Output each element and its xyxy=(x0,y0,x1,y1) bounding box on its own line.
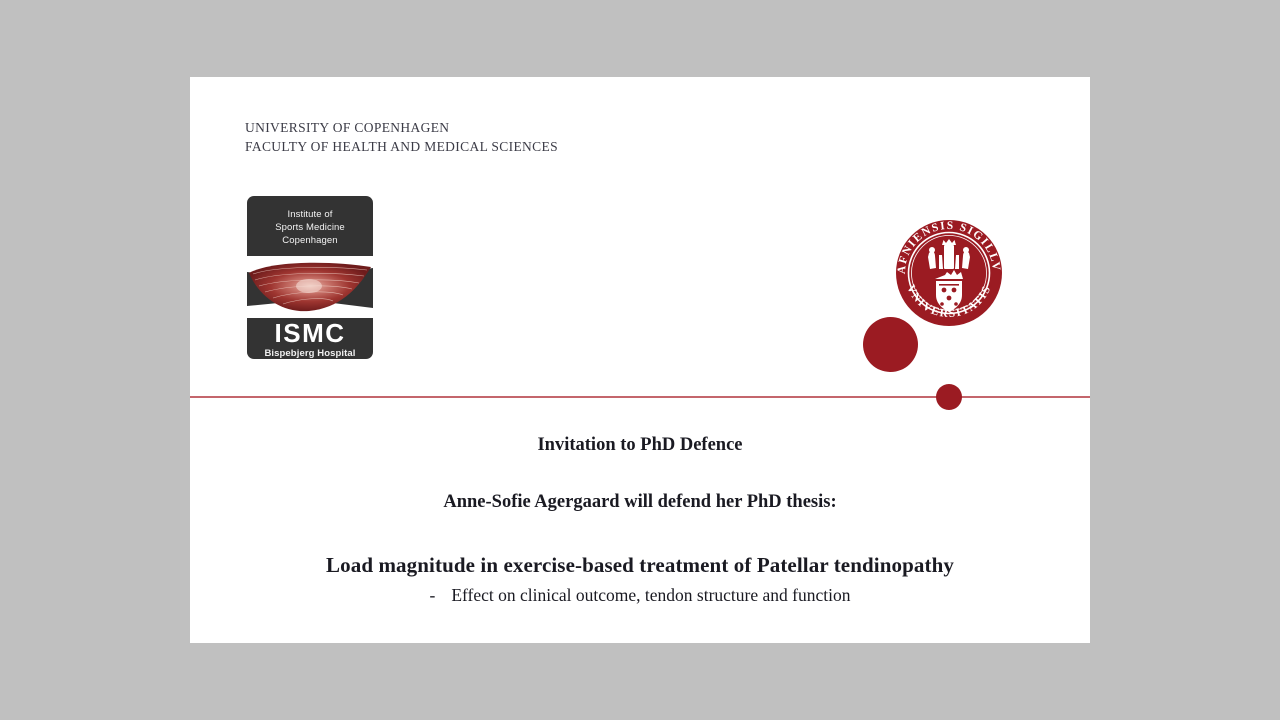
thesis-subtitle-dash: - xyxy=(430,585,436,606)
ismc-toptext-line3: Copenhagen xyxy=(247,235,373,248)
faculty-name: FACULTY OF HEALTH AND MEDICAL SCIENCES xyxy=(245,138,558,157)
ucph-seal-icon: HAFNIENSIS SIGILLVM VNIVERSITATIS xyxy=(895,219,1003,327)
ismc-wordmark: ISMC Bispebjerg Hospital xyxy=(247,320,373,359)
decorative-circle-large xyxy=(863,317,918,372)
invitation-body: Invitation to PhD Defence Anne-Sofie Age… xyxy=(190,427,1090,643)
ismc-toptext-line1: Institute of xyxy=(247,209,373,222)
invitation-heading: Invitation to PhD Defence xyxy=(190,435,1090,456)
thesis-subtitle: -Effect on clinical outcome, tendon stru… xyxy=(190,585,1090,606)
thesis-title: Load magnitude in exercise-based treatme… xyxy=(190,553,1090,578)
invitation-slide-card: UNIVERSITY OF COPENHAGEN FACULTY OF HEAL… xyxy=(190,77,1090,643)
university-name: UNIVERSITY OF COPENHAGEN xyxy=(245,119,558,138)
ismc-logo-toptext: Institute of Sports Medicine Copenhagen xyxy=(247,209,373,247)
thesis-subtitle-text: Effect on clinical outcome, tendon struc… xyxy=(451,585,850,605)
ismc-logo: Institute of Sports Medicine Copenhagen xyxy=(247,196,373,359)
ismc-acronym: ISMC xyxy=(247,320,373,346)
defender-statement: Anne-Sofie Agergaard will defend her PhD… xyxy=(190,492,1090,513)
institution-header: UNIVERSITY OF COPENHAGEN FACULTY OF HEAL… xyxy=(245,119,558,156)
muscle-illustration-icon xyxy=(247,256,373,318)
decorative-circle-small xyxy=(936,384,962,410)
ismc-hospital-name: Bispebjerg Hospital xyxy=(247,348,373,359)
ismc-toptext-line2: Sports Medicine xyxy=(247,222,373,235)
